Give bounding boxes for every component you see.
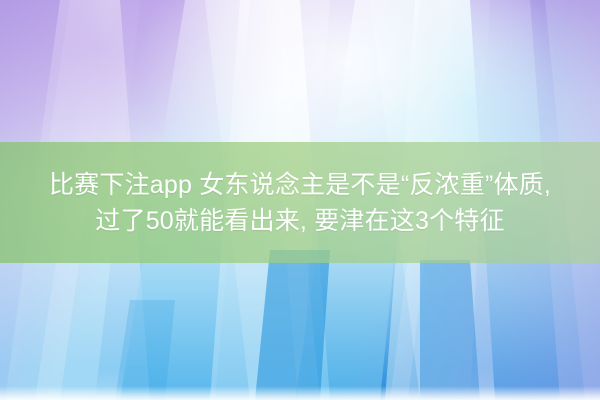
headline-band: 比赛下注app 女东说念主是不是“反浓重”体质, 过了50就能看出来, 要津在这… (0, 142, 600, 263)
watermark (272, 378, 328, 394)
headline-line-2: 过了50就能看出来, 要津在这3个特征 (95, 203, 504, 239)
banner-image: 比赛下注app 女东说念主是不是“反浓重”体质, 过了50就能看出来, 要津在这… (0, 0, 600, 400)
headline-line-1: 比赛下注app 女东说念主是不是“反浓重”体质, (49, 167, 551, 203)
